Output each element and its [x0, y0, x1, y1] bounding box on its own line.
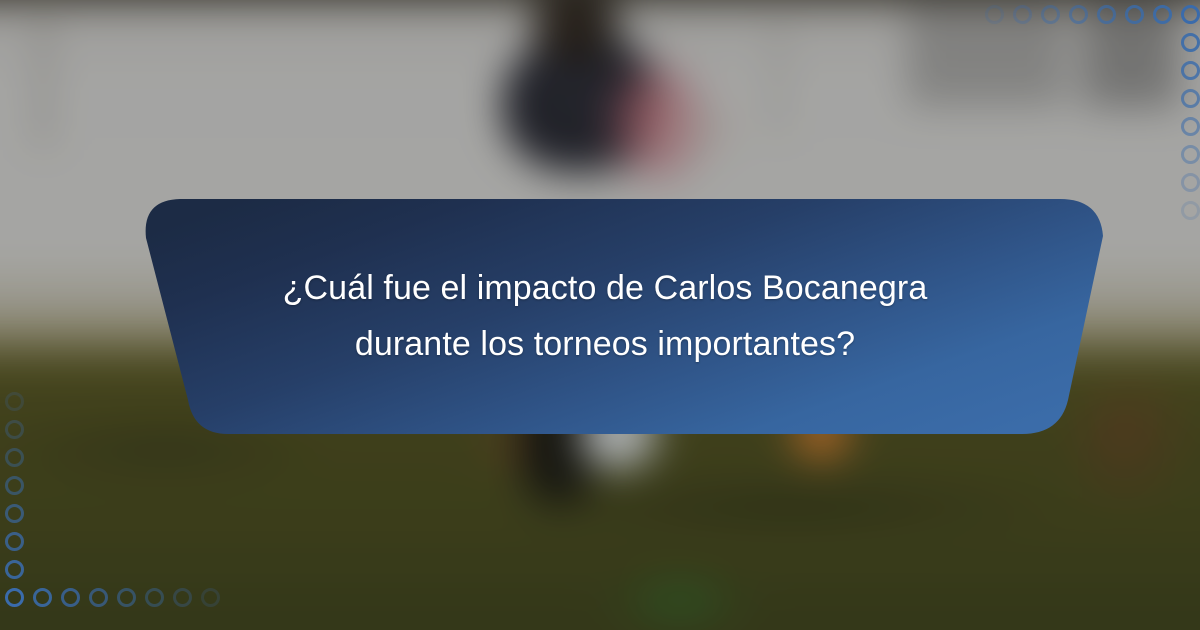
share-card-canvas: ¿Cuál fue el impacto de Carlos Bocanegra…: [0, 0, 1200, 630]
question-card: ¿Cuál fue el impacto de Carlos Bocanegra…: [100, 192, 1110, 440]
question-line-1: ¿Cuál fue el impacto de Carlos Bocanegra: [283, 268, 928, 308]
question-line-2: durante los torneos importantes?: [355, 324, 855, 364]
question-text-block: ¿Cuál fue el impacto de Carlos Bocanegra…: [100, 192, 1110, 440]
